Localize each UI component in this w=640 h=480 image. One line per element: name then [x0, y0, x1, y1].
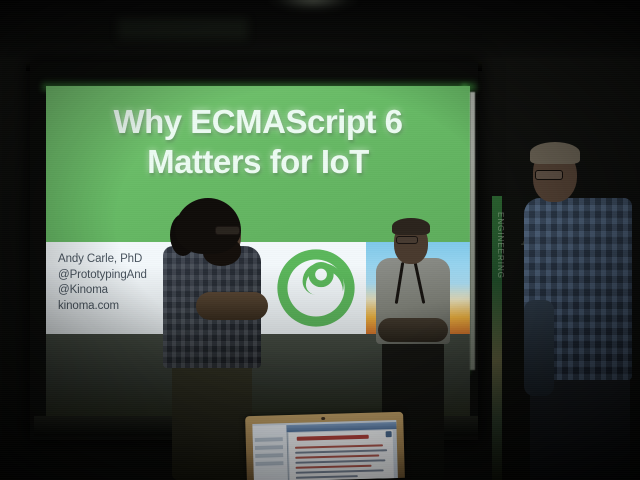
- ceiling-light: [268, 0, 358, 12]
- center-presenter-hair: [392, 218, 430, 235]
- document-line: [295, 454, 379, 458]
- laptop-window-sidebar[interactable]: [252, 425, 289, 480]
- document-line: [295, 449, 387, 454]
- left-presenter-legs: [172, 362, 252, 480]
- document-line: [296, 475, 358, 479]
- document-line: [295, 444, 383, 448]
- left-presenter-glasses: [215, 226, 240, 235]
- right-attendee-glasses: [535, 170, 563, 180]
- window-close-icon[interactable]: [386, 431, 392, 437]
- sidebar-row[interactable]: [255, 453, 283, 458]
- screen-edge-strip: [470, 92, 475, 370]
- center-presenter-crossed-arms: [378, 318, 448, 342]
- left-presenter-crossed-arms: [196, 292, 268, 320]
- right-attendee-arm: [524, 300, 554, 396]
- right-attendee-hair: [530, 142, 580, 164]
- slide-title: Why ECMAScript 6 Matters for IoT: [46, 102, 470, 182]
- photo-scene: Why ECMAScript 6 Matters for IoT Andy Ca…: [0, 0, 640, 480]
- document-line: [295, 459, 385, 464]
- sidebar-row[interactable]: [255, 437, 283, 442]
- center-presenter-glasses: [396, 236, 418, 244]
- ceiling-vent: [118, 18, 248, 40]
- document-line: [296, 469, 384, 473]
- document-line: [296, 465, 372, 469]
- laptop-document: [289, 430, 394, 480]
- document-heading: [297, 435, 369, 441]
- sidebar-row[interactable]: [255, 461, 283, 466]
- sidebar-row[interactable]: [255, 445, 283, 450]
- kinoma-spiral-logo-icon: [274, 246, 358, 330]
- laptop[interactable]: [245, 412, 405, 480]
- venue-banner-strip-text: ENGINEERING: [489, 212, 505, 392]
- laptop-screen[interactable]: [252, 420, 398, 480]
